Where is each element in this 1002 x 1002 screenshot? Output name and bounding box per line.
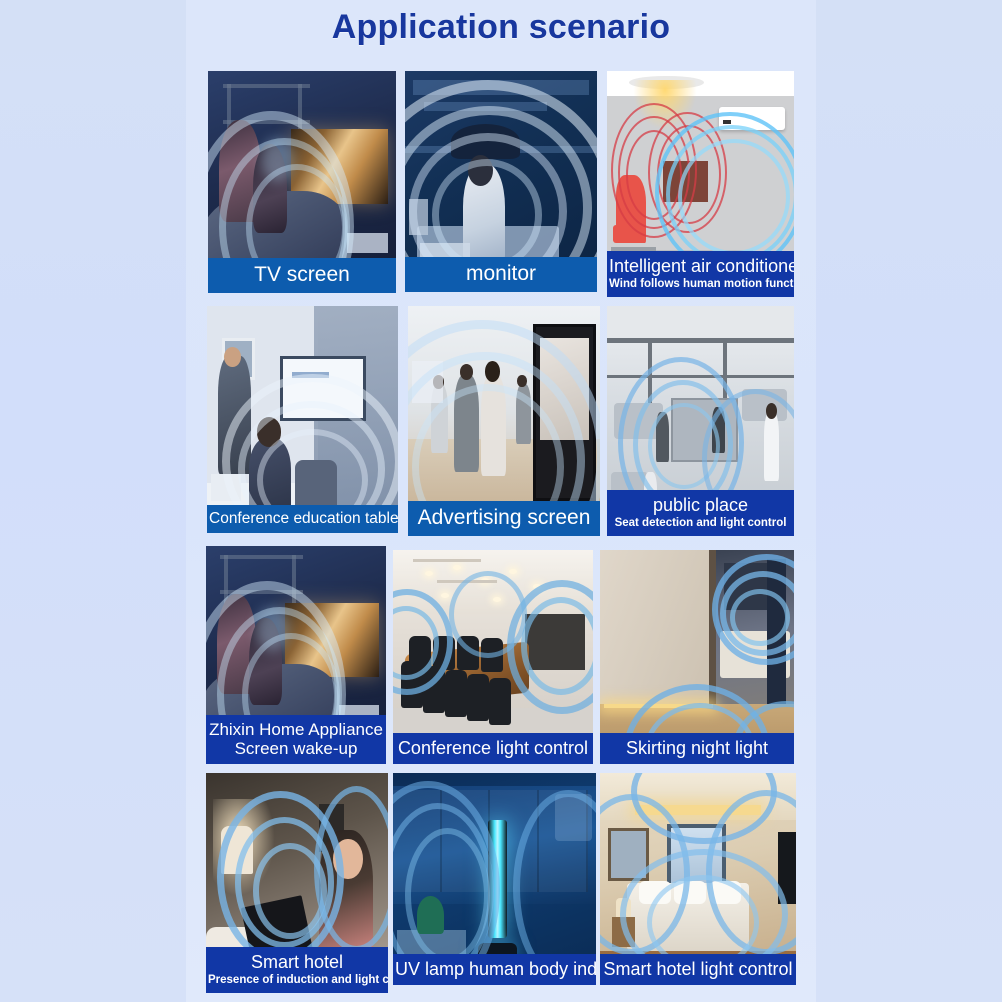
card-caption: UV lamp human body induction <box>393 954 596 985</box>
application-scenario-page: Application scenario TV screen <box>0 0 1002 1002</box>
card-title: public place <box>609 495 792 515</box>
card-subtitle: Screen wake-up <box>208 739 384 758</box>
card-title: Intelligent air conditioner <box>609 256 792 276</box>
card-title: Zhixin Home Appliance <box>208 720 384 739</box>
card-caption: Smart hotel light control <box>600 954 796 985</box>
card-subtitle: Wind follows human motion function <box>609 278 792 291</box>
scenario-card-conference-light-control[interactable]: Conference light control <box>393 550 593 764</box>
scenario-card-advertising-screen[interactable]: Advertising screen <box>408 306 600 536</box>
card-caption: Smart hotel Presence of induction and li… <box>206 947 388 993</box>
scenario-card-tv-screen[interactable]: TV screen <box>208 71 396 293</box>
scenario-card-zhixin-home-appliance[interactable]: Zhixin Home Appliance Screen wake-up <box>206 546 386 764</box>
card-title: Smart hotel light control <box>602 959 794 979</box>
scenario-card-intelligent-air-conditioner[interactable]: Intelligent air conditioner Wind follows… <box>607 71 794 297</box>
card-caption: Intelligent air conditioner Wind follows… <box>607 251 794 297</box>
card-title: Conference light control <box>395 738 591 758</box>
scenario-card-smart-hotel-light-control[interactable]: Smart hotel light control <box>600 773 796 985</box>
card-subtitle: Seat detection and light control <box>609 517 792 530</box>
card-title: Smart hotel <box>208 952 386 972</box>
card-caption: Skirting night light <box>600 733 794 764</box>
card-caption: monitor <box>405 257 597 292</box>
scene-conference-education <box>207 306 398 533</box>
card-caption: Conference education tablet <box>207 505 398 533</box>
scenario-card-skirting-night-light[interactable]: Skirting night light <box>600 550 794 764</box>
card-caption: Zhixin Home Appliance Screen wake-up <box>206 715 386 764</box>
scenario-card-conference-education-tablet[interactable]: Conference education tablet <box>207 306 398 533</box>
scenario-card-smart-hotel[interactable]: Smart hotel Presence of induction and li… <box>206 773 388 993</box>
card-title: Skirting night light <box>602 738 792 758</box>
card-title: Advertising screen <box>410 506 598 530</box>
card-caption: public place Seat detection and light co… <box>607 490 794 536</box>
scenario-card-uv-lamp[interactable]: UV lamp human body induction <box>393 773 596 985</box>
card-title: UV lamp human body induction <box>395 959 594 979</box>
card-title: monitor <box>407 262 595 286</box>
scenario-card-monitor[interactable]: monitor <box>405 71 597 292</box>
page-title: Application scenario <box>0 8 1002 47</box>
card-caption: Conference light control <box>393 733 593 764</box>
card-caption: Advertising screen <box>408 501 600 536</box>
card-caption: TV screen <box>208 258 396 293</box>
card-subtitle: Presence of induction and light control <box>208 974 386 987</box>
scenario-card-public-place[interactable]: public place Seat detection and light co… <box>607 306 794 536</box>
card-title: TV screen <box>210 263 394 287</box>
card-title: Conference education tablet <box>209 510 396 527</box>
